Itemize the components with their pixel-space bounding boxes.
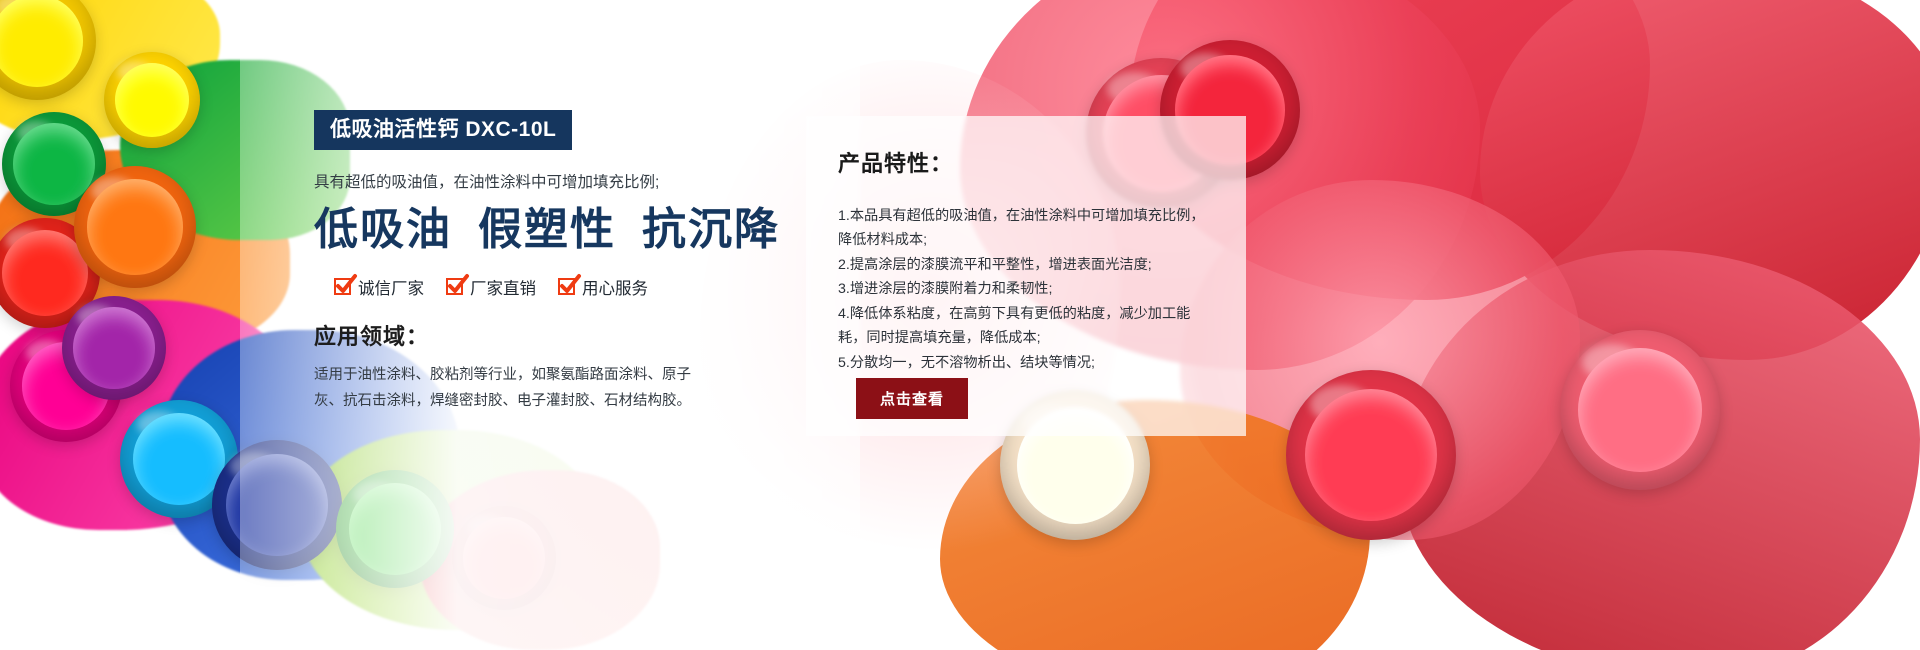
checkbox-checked-icon (558, 278, 575, 295)
product-features-panel: 产品特性： 1.本品具有超低的吸油值，在油性涂料中可增加填充比例，降低材料成本;… (806, 116, 1246, 436)
paint-cup-yellow2 (104, 52, 200, 148)
panel-title: 产品特性： (838, 146, 1218, 178)
paint-cup-orange (74, 166, 196, 288)
list-item: 2.提高涂层的漆膜流平和平整性，增进表面光洁度; (838, 253, 1218, 277)
application-section-title: 应用领域： (314, 319, 714, 351)
feature-item-1: 诚信厂家 (334, 275, 424, 299)
feature-item-2: 厂家直销 (446, 275, 536, 299)
headline-word-1: 低吸油 (314, 205, 452, 254)
feature-label-3: 用心服务 (582, 275, 648, 299)
headline-word-3: 抗沉降 (642, 205, 780, 254)
feature-label-1: 诚信厂家 (358, 275, 424, 299)
feature-item-3: 用心服务 (558, 275, 648, 299)
list-item: 3.增进涂层的漆膜附着力和柔韧性; (838, 277, 1218, 301)
panel-feature-list: 1.本品具有超低的吸油值，在油性涂料中可增加填充比例，降低材料成本; 2.提高涂… (838, 204, 1218, 375)
headline-word-2: 假塑性 (478, 205, 616, 254)
checkbox-checked-icon (334, 278, 351, 295)
paint-cup-red-right (1286, 370, 1456, 540)
paint-cup-pink-right (1560, 330, 1720, 490)
paint-cup-purple (62, 296, 166, 400)
feature-label-2: 厂家直销 (470, 275, 536, 299)
feature-badges-row: 诚信厂家 厂家直销 用心服务 (314, 275, 714, 299)
panel-content: 产品特性： 1.本品具有超低的吸油值，在油性涂料中可增加填充比例，降低材料成本;… (806, 116, 1246, 375)
left-content-column: 低吸油活性钙 DXC-10L 具有超低的吸油值，在油性涂料中可增加填充比例; 低… (314, 110, 714, 415)
list-item: 1.本品具有超低的吸油值，在油性涂料中可增加填充比例，降低材料成本; (838, 204, 1218, 253)
application-section-text: 适用于油性涂料、胶粘剂等行业，如聚氨酯路面涂料、原子灰、抗石击涂料，焊缝密封胶、… (314, 362, 710, 416)
product-subtitle: 具有超低的吸油值，在油性涂料中可增加填充比例; (314, 171, 714, 194)
product-title-badge: 低吸油活性钙 DXC-10L (314, 110, 572, 150)
headline-keywords: 低吸油假塑性抗沉降 (314, 206, 714, 254)
banner-stage: 低吸油活性钙 DXC-10L 具有超低的吸油值，在油性涂料中可增加填充比例; 低… (0, 0, 1920, 650)
checkbox-checked-icon (446, 278, 463, 295)
list-item: 4.降低体系粘度，在高剪下具有更低的粘度，减少加工能耗，同时提高填充量，降低成本… (838, 302, 1218, 351)
view-details-button[interactable]: 点击查看 (856, 378, 968, 419)
list-item: 5.分散均一，无不溶物析出、结块等情况; (838, 351, 1218, 375)
